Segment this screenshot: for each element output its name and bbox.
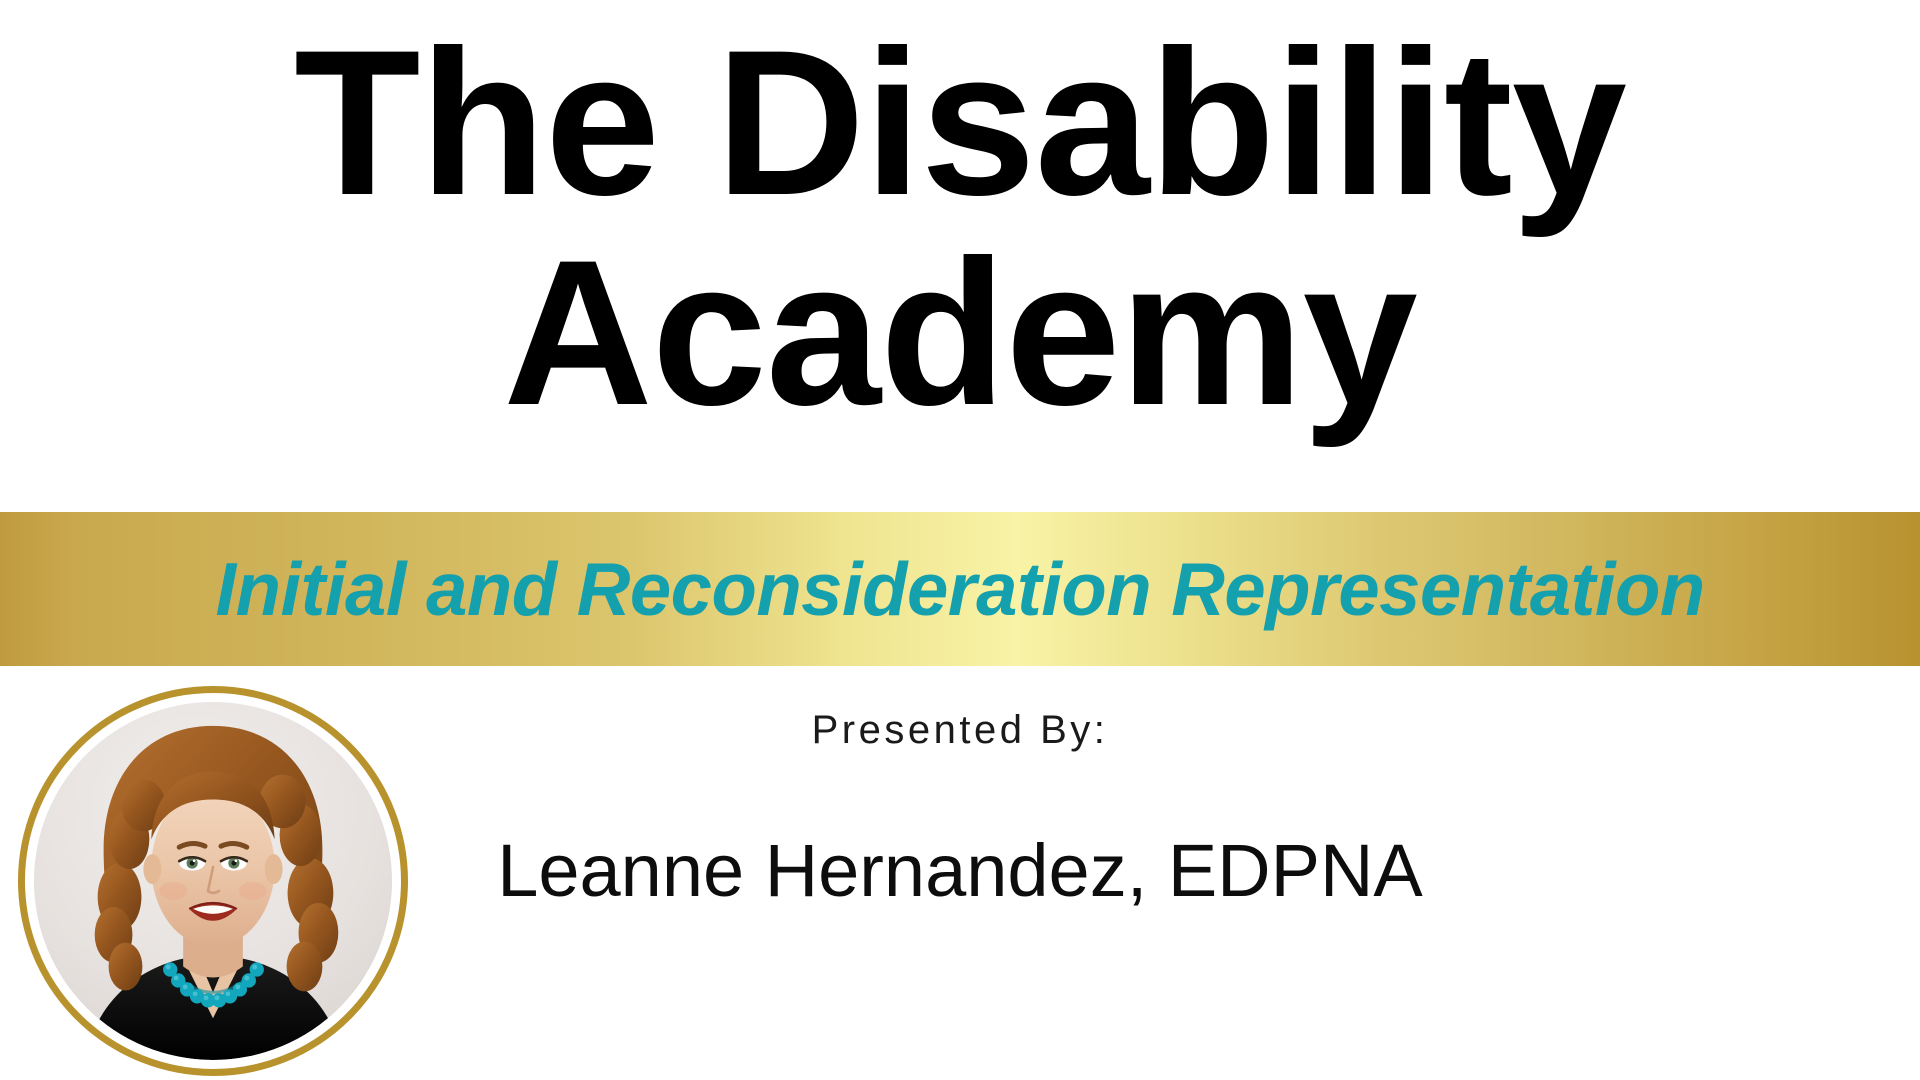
avatar [18, 686, 408, 1076]
title-line-2: Academy [0, 228, 1920, 438]
subtitle-banner: Initial and Reconsideration Representati… [0, 512, 1920, 666]
avatar-frame [34, 702, 392, 1060]
title-slide: The Disability Academy Initial and Recon… [0, 0, 1920, 1080]
presenter-photo [34, 702, 392, 1060]
page-title: The Disability Academy [0, 0, 1920, 512]
subtitle-text: Initial and Reconsideration Representati… [215, 552, 1704, 627]
title-line-1: The Disability [0, 18, 1920, 228]
